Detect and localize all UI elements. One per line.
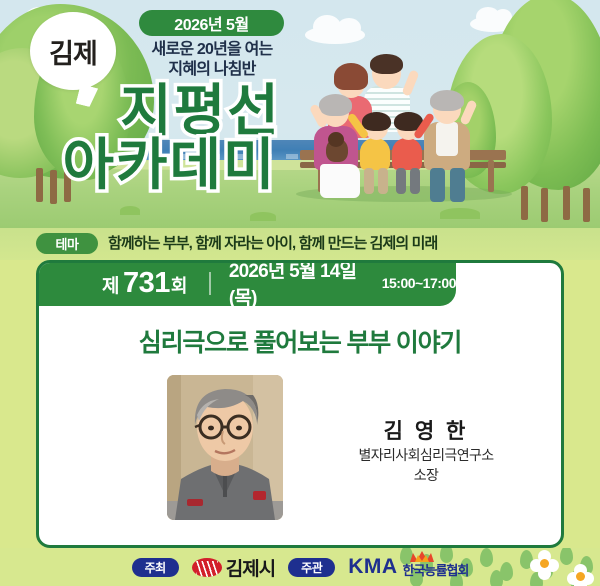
theme-text: 함께하는 부부, 함께 자라는 아이, 함께 만드는 김제의 미래: [108, 233, 437, 254]
session-time: 15:00~17:00: [382, 275, 456, 291]
cloud-icon: [305, 26, 365, 44]
host-badge: 주최: [132, 558, 179, 577]
tree-trunk: [563, 186, 570, 220]
event-card: 제 731 회 2026년 5월 14일(목) 15:00~17:00 심리극으…: [36, 260, 564, 548]
session-number-group: 제 731 회: [102, 267, 187, 300]
city-bubble-label: 김제: [49, 32, 97, 71]
tree-trunk: [541, 188, 548, 222]
kma-korean-name: 한국능률협회: [403, 560, 469, 579]
tree-trunk: [583, 188, 590, 222]
session-number: 731: [123, 267, 170, 300]
bench-leg: [488, 160, 494, 192]
city-bubble-badge: 김제: [30, 12, 116, 90]
theme-badge: 테마: [36, 233, 98, 254]
date-pill-label: 2026년 5월: [174, 11, 248, 35]
footer-bar: 주최 김제시 주관 KMA 한국능률협회: [0, 548, 600, 586]
subtitle-line-1: 새로운 20년을 여는: [129, 40, 295, 60]
organizer-badge: 주관: [288, 558, 335, 577]
speaker-org-line-2: 소장: [291, 465, 561, 485]
session-prefix: 제: [102, 271, 119, 298]
footer-credits-row: 주최 김제시 주관 KMA 한국능률협회: [0, 548, 600, 586]
gimje-city-logo: 김제시: [192, 554, 275, 581]
poster-root: 김제 2026년 5월 새로운 20년을 여는 지혜의 나침반 지평선 아카데미…: [0, 0, 600, 586]
session-bar: 제 731 회 2026년 5월 14일(목) 15:00~17:00: [36, 260, 456, 306]
organizer-badge-label: 주관: [301, 559, 322, 576]
subtitle-line-2: 지혜의 나침반: [129, 60, 295, 80]
theme-band: 테마 함께하는 부부, 함께 자라는 아이, 함께 만드는 김제의 미래: [0, 228, 600, 260]
program-title-line-2: 아카데미: [0, 138, 345, 192]
grass-tuft: [250, 212, 276, 221]
speaker-org-line-1: 별자리사회심리극연구소: [291, 445, 561, 465]
kma-korean-name-text: 한국능률협회: [403, 563, 469, 578]
host-badge-label: 주최: [145, 559, 166, 576]
kma-crown-icon: [409, 551, 435, 562]
session-date: 2026년 5월 14일(목): [229, 260, 378, 310]
theme-badge-label: 테마: [56, 234, 79, 253]
program-title: 지평선 아카데미: [0, 84, 345, 192]
grass-tuft: [120, 206, 140, 215]
tree-trunk: [521, 186, 528, 220]
header-illustration: 김제 2026년 5월 새로운 20년을 여는 지혜의 나침반 지평선 아카데미: [0, 0, 600, 228]
grass-tuft: [440, 208, 480, 219]
gimje-emblem-icon: [192, 558, 222, 577]
lecture-title: 심리극으로 풀어보는 부부 이야기: [39, 323, 561, 359]
session-suffix: 회: [171, 272, 187, 298]
kma-logo: KMA 한국능률협회: [348, 555, 468, 579]
speaker-photo: [167, 375, 283, 520]
speaker-portrait-illustration: [167, 375, 283, 520]
subtitle-block: 새로운 20년을 여는 지혜의 나침반: [129, 40, 295, 81]
gimje-city-name: 김제시: [226, 554, 275, 581]
session-divider: [209, 272, 211, 295]
program-title-line-1: 지평선: [56, 84, 345, 138]
date-pill-badge: 2026년 5월: [139, 10, 284, 36]
speaker-organization: 별자리사회심리극연구소 소장: [291, 445, 561, 486]
speaker-name: 김 영 한: [291, 415, 561, 445]
kma-wordmark: KMA: [348, 555, 397, 579]
